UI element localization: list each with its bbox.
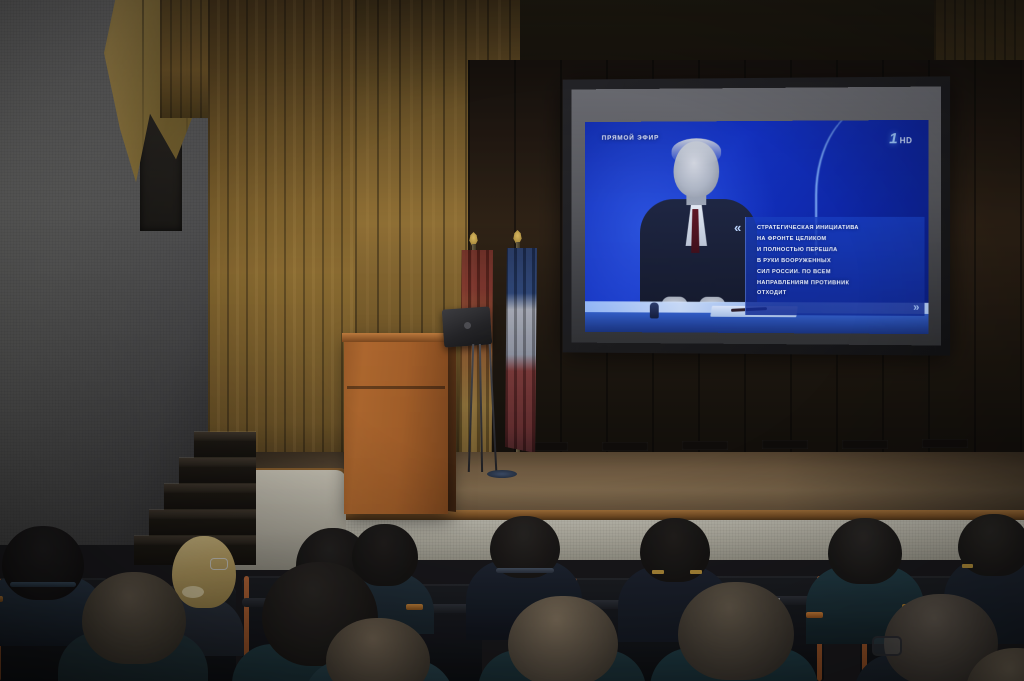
collar-tab-icon <box>962 564 973 568</box>
stair-riser <box>179 467 256 484</box>
quote-line: НАПРАВЛЕНИЯМ ПРОТИВНИК <box>757 278 914 290</box>
channel-logo: 1 HD <box>889 131 912 146</box>
auditorium-scene: Auditorium audience watching live televi… <box>0 0 1024 681</box>
person-head <box>172 536 236 608</box>
person-epaulet <box>0 596 3 602</box>
vent-grille <box>842 440 888 449</box>
person-epaulet <box>806 612 823 618</box>
collar-tab-icon <box>652 570 664 574</box>
person-head <box>508 596 618 681</box>
eyeglasses-icon <box>210 558 228 570</box>
quote-line: СИЛ РОССИИ. ПО ВСЕМ <box>757 267 914 278</box>
collar-tab-icon <box>690 570 702 574</box>
person-head <box>352 524 418 586</box>
person-head <box>828 518 902 584</box>
projection-screen-image: ПРЯМОЙ ЭФИР 1 HD « СТРАТЕГИЧЕСКАЯ ИНИЦИА… <box>585 120 929 334</box>
vent-grille <box>922 439 968 448</box>
audience <box>0 500 1024 681</box>
person-head <box>678 582 794 680</box>
desk-microphone <box>650 303 659 319</box>
hair-tie <box>182 586 204 598</box>
quote-close-icon: » <box>913 303 919 314</box>
person-collar <box>10 582 76 587</box>
lectern-groove <box>347 386 445 389</box>
quote-line: В РУКИ ВООРУЖЕННЫХ <box>757 256 914 267</box>
speaker-hair <box>672 138 722 164</box>
channel-logo-mark: 1 <box>889 131 897 146</box>
stair-step <box>179 458 256 467</box>
russian-tricolor-flag <box>505 248 537 453</box>
service-flag <box>459 250 493 465</box>
live-badge: ПРЯМОЙ ЭФИР <box>602 135 659 142</box>
vent-grille <box>762 440 808 449</box>
person-epaulet <box>406 604 423 610</box>
broadcast-quote-box: « СТРАТЕГИЧЕСКАЯ ИНИЦИАТИВА НА ФРОНТЕ ЦЕ… <box>745 217 924 316</box>
stair-riser <box>194 441 256 458</box>
quote-line: И ПОЛНОСТЬЮ ПЕРЕШЛА <box>757 245 914 256</box>
quote-line: СТРАТЕГИЧЕСКАЯ ИНИЦИАТИВА <box>757 223 914 234</box>
flag-fold-shading <box>459 250 493 465</box>
channel-logo-hd: HD <box>900 135 913 146</box>
quote-line: НА ФРОНТЕ ЦЕЛИКОМ <box>757 234 914 245</box>
quote-open-icon: « <box>734 221 741 234</box>
eyeglasses-icon <box>872 636 902 656</box>
flag-fold-shading <box>505 248 537 453</box>
vent-grille <box>682 441 728 450</box>
microphone-stand-base <box>487 470 517 478</box>
lectern-top <box>342 333 450 342</box>
stair-step <box>194 432 256 441</box>
stair-step <box>164 484 256 493</box>
person-head <box>2 526 84 600</box>
quote-line: ОТХОДИТ <box>757 288 914 300</box>
person-collar <box>496 568 554 573</box>
person-head <box>82 572 186 664</box>
lectern[interactable] <box>344 336 448 514</box>
vent-grille <box>602 442 648 451</box>
